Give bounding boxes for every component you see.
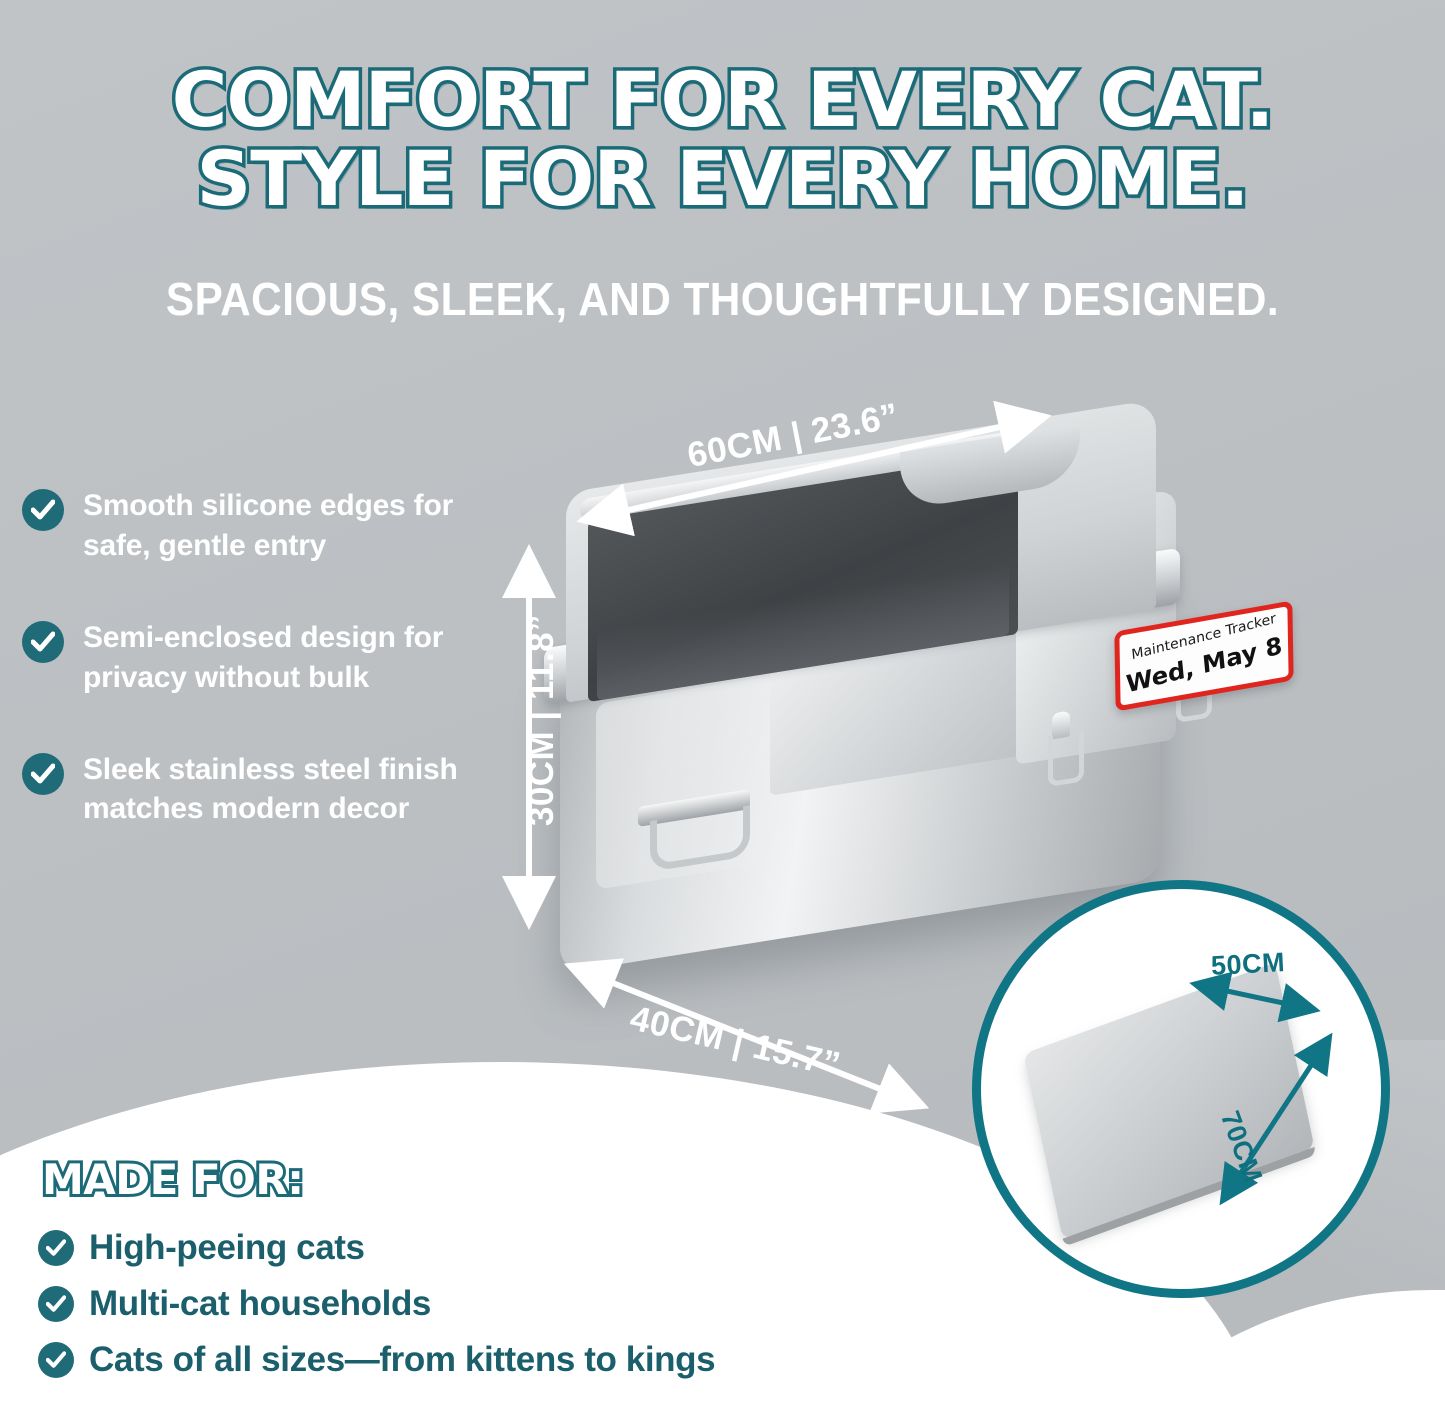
check-icon (38, 1230, 74, 1266)
feature-item: Sleek stainless steel finish matches mod… (22, 750, 474, 830)
feature-text: Semi-enclosed design for privacy without… (83, 618, 474, 698)
feature-text: Sleek stainless steel finish matches mod… (83, 750, 474, 830)
made-for-list: High-peeing cats Multi-cat households Ca… (38, 1228, 938, 1396)
product-infographic: COMFORT FOR EVERY CAT. STYLE FOR EVERY H… (0, 0, 1445, 1406)
feature-item: Semi-enclosed design for privacy without… (22, 618, 474, 698)
made-for-text: High-peeing cats (89, 1228, 365, 1268)
dimension-label-height: 30CM | 11.8” (522, 614, 562, 826)
made-for-item: High-peeing cats (38, 1228, 938, 1268)
feature-text: Smooth silicone edges for safe, gentle e… (83, 486, 474, 566)
check-icon (38, 1342, 74, 1378)
mat-inset-circle: 50CM 70CM (972, 880, 1390, 1298)
made-for-text: Cats of all sizes—from kittens to kings (89, 1340, 715, 1380)
check-icon (22, 489, 64, 531)
side-clasp (1048, 710, 1074, 786)
feature-item: Smooth silicone edges for safe, gentle e… (22, 486, 474, 566)
made-for-text: Multi-cat households (89, 1284, 431, 1324)
feature-list: Smooth silicone edges for safe, gentle e… (22, 486, 474, 881)
litter-mat (1023, 962, 1314, 1239)
check-icon (38, 1286, 74, 1322)
made-for-item: Multi-cat households (38, 1284, 938, 1324)
check-icon (22, 621, 64, 663)
made-for-heading: MADE FOR: (42, 1155, 304, 1204)
subheadline: SPACIOUS, SLEEK, AND THOUGHTFULLY DESIGN… (58, 272, 1387, 326)
check-icon (22, 753, 64, 795)
mat-dimension-label-width: 50CM (1210, 947, 1286, 982)
made-for-item: Cats of all sizes—from kittens to kings (38, 1340, 938, 1380)
